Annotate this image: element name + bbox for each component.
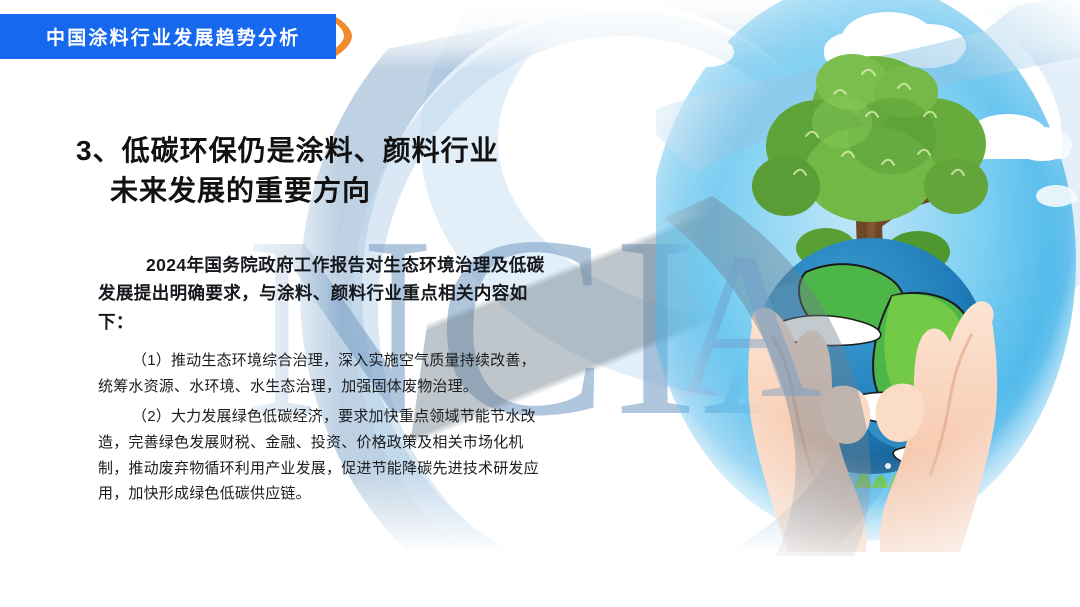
- lead-paragraph: 2024年国务院政府工作报告对生态环境治理及低碳发展提出明确要求，与涂料、颜料行…: [98, 251, 546, 336]
- page-title-line-2: 未来发展的重要方向: [110, 171, 576, 211]
- body-paragraph-1: （1）推动生态环境综合治理，深入实施空气质量持续改善，统筹水资源、水环境、水生态…: [98, 348, 550, 400]
- body-paragraph-2: （2）大力发展绿色低碳经济，要求加快重点领域节能节水改造，完善绿色发展财税、金融…: [98, 404, 550, 507]
- slide-canvas: NCIA: [0, 0, 1080, 607]
- eco-tree-globe-hands-illustration: A: [656, 0, 1080, 556]
- page-title: 3、低碳环保仍是涂料、颜料行业 未来发展的重要方向: [76, 131, 576, 211]
- page-title-line-1: 3、低碳环保仍是涂料、颜料行业: [76, 135, 499, 166]
- slide-text-content: 3、低碳环保仍是涂料、颜料行业 未来发展的重要方向 2024年国务院政府工作报告…: [0, 0, 600, 607]
- svg-text:A: A: [670, 210, 822, 442]
